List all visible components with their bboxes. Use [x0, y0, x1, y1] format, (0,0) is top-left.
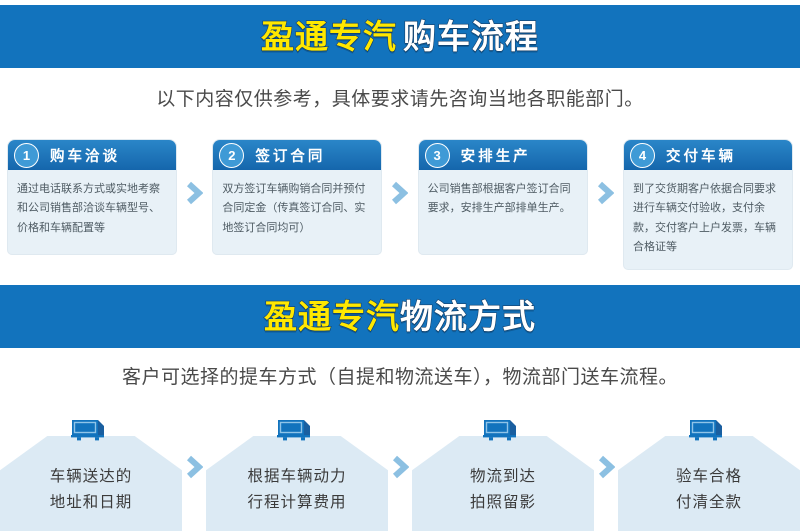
logistics-item-4-line2: 付清全款: [618, 490, 800, 516]
step-card-4-header: 4 交付车辆: [624, 140, 792, 170]
step-card-4[interactable]: 4 交付车辆 到了交货期客户依据合同要求进行车辆交付验收，支付余款，交付客户上户…: [624, 140, 792, 269]
chevron-right-icon: [186, 455, 203, 479]
chevron-right-icon: [392, 455, 409, 479]
step-title-3: 安排生产: [461, 145, 531, 166]
purchase-process-banner-title: 盈通专汽 购车流程: [261, 20, 539, 53]
logistics-item-2-line2: 行程计算费用: [206, 490, 388, 516]
step-number-badge-2: 2: [219, 143, 244, 168]
brand-name-text: 盈通专汽: [261, 20, 397, 53]
chevron-right-icon: [598, 455, 615, 479]
truck-icon: [482, 418, 524, 444]
step-body-2: 双方签订车辆购销合同并预付合同定金（传真签订合同、实地签订合同均可）: [213, 170, 381, 254]
logistics-subtitle: 客户可选择的提车方式（自提和物流送车），物流部门送车流程。: [0, 362, 800, 389]
purchase-process-steps: 1 购车洽谈 通过电话联系方式或实地考察和公司销售部洽谈车辆型号、价格和车辆配置…: [8, 140, 792, 245]
logistics-arrow-3: [594, 418, 618, 531]
logistics-item-3[interactable]: 物流到达 拍照留影: [412, 418, 594, 531]
truck-icon: [276, 418, 318, 444]
step-body-4: 到了交货期客户依据合同要求进行车辆交付验收，支付余款，交付客户上户发票，车辆合格…: [624, 170, 792, 269]
logistics-item-3-text: 物流到达 拍照留影: [412, 464, 594, 515]
brand-name-text: 盈通专汽: [264, 300, 400, 333]
logistics-banner-title: 盈通专汽 物流方式: [264, 300, 536, 333]
purchase-process-title-text: 购车流程: [403, 20, 539, 53]
step-card-1[interactable]: 1 购车洽谈 通过电话联系方式或实地考察和公司销售部洽谈车辆型号、价格和车辆配置…: [8, 140, 176, 254]
step-arrow-2: [381, 140, 418, 245]
step-body-3: 公司销售部根据客户签订合同要求，安排生产部排单生产。: [419, 170, 587, 254]
step-title-2: 签订合同: [255, 145, 325, 166]
chevron-right-icon: [186, 181, 203, 205]
logistics-arrow-2: [388, 418, 412, 531]
logistics-item-4-line1: 验车合格: [618, 464, 800, 490]
logistics-title-text: 物流方式: [400, 300, 536, 333]
purchase-process-banner: 盈通专汽 购车流程: [0, 5, 800, 68]
step-card-2[interactable]: 2 签订合同 双方签订车辆购销合同并预付合同定金（传真签订合同、实地签订合同均可…: [213, 140, 381, 254]
step-arrow-1: [176, 140, 213, 245]
logistics-item-2-text: 根据车辆动力 行程计算费用: [206, 464, 388, 515]
logistics-item-3-line1: 物流到达: [412, 464, 594, 490]
truck-icon: [688, 418, 730, 444]
logistics-item-2-line1: 根据车辆动力: [206, 464, 388, 490]
logistics-arrow-1: [182, 418, 206, 531]
logistics-banner: 盈通专汽 物流方式: [0, 285, 800, 348]
step-title-4: 交付车辆: [666, 145, 736, 166]
logistics-item-1-line1: 车辆送达的: [0, 464, 182, 490]
chevron-right-icon: [597, 181, 614, 205]
step-body-1: 通过电话联系方式或实地考察和公司销售部洽谈车辆型号、价格和车辆配置等: [8, 170, 176, 254]
step-card-1-header: 1 购车洽谈: [8, 140, 176, 170]
logistics-item-4-text: 验车合格 付清全款: [618, 464, 800, 515]
logistics-item-1-line2: 地址和日期: [0, 490, 182, 516]
chevron-right-icon: [391, 181, 408, 205]
step-arrow-3: [587, 140, 624, 245]
logistics-steps: 车辆送达的 地址和日期 根据车辆动力 行程计算费用: [0, 418, 800, 531]
logistics-item-2[interactable]: 根据车辆动力 行程计算费用: [206, 418, 388, 531]
logistics-item-1-text: 车辆送达的 地址和日期: [0, 464, 182, 515]
logistics-item-1[interactable]: 车辆送达的 地址和日期: [0, 418, 182, 531]
truck-icon: [70, 418, 112, 444]
step-card-2-header: 2 签订合同: [213, 140, 381, 170]
step-number-badge-3: 3: [425, 143, 450, 168]
purchase-process-subtitle: 以下内容仅供参考，具体要求请先咨询当地各职能部门。: [0, 84, 800, 111]
step-title-1: 购车洽谈: [50, 145, 120, 166]
logistics-item-4[interactable]: 验车合格 付清全款: [618, 418, 800, 531]
step-card-3[interactable]: 3 安排生产 公司销售部根据客户签订合同要求，安排生产部排单生产。: [419, 140, 587, 254]
step-number-badge-4: 4: [630, 143, 655, 168]
logistics-item-3-line2: 拍照留影: [412, 490, 594, 516]
step-number-badge-1: 1: [14, 143, 39, 168]
step-card-3-header: 3 安排生产: [419, 140, 587, 170]
